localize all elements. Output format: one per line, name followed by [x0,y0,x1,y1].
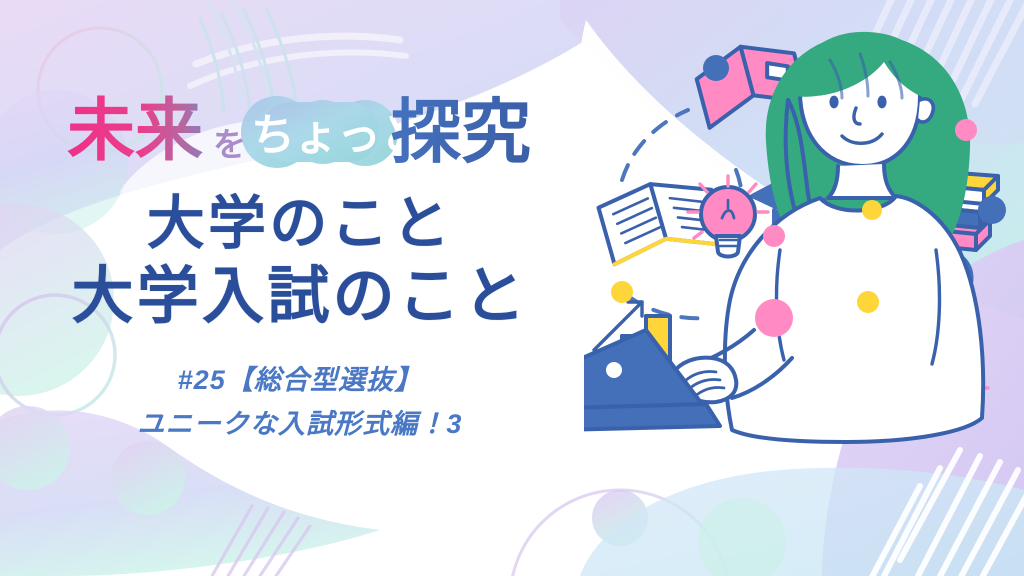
brand-logo: 未来 を ちょっと 探究 [65,92,535,174]
laptop-logo-dot [606,362,622,378]
blue-dot-2 [978,196,1006,224]
logo-text-wo: を [213,125,246,164]
logo-text-tankyu: 探究 [391,92,531,173]
headline-line-2: 大学入試のこと [71,260,528,333]
headline-line-1: 大学のこと [71,190,528,258]
blue-dot [703,55,729,81]
logo-text-mirai: 未来 [67,92,203,171]
brand-logo-graphic: 未来 を ちょっと 探究 [65,92,535,174]
yellow-dot-3 [857,291,879,313]
pink-dot-3 [955,119,977,141]
illustration-area [584,0,1024,576]
yellow-dot-2 [862,200,882,220]
episode-subtitle: #25【総合型選抜】 ユニークな入試形式編！3 [138,360,463,445]
laptop-base [584,404,720,430]
poster-canvas: 未来 を ちょっと 探究 大学のこと 大学入試のこと #25【総合型選抜】 ユニ… [0,0,1024,576]
yellow-dot [611,281,633,303]
subtitle-line-2: ユニークな入試形式編！3 [138,404,463,445]
page-title: 大学のこと 大学入試のこと [71,190,528,334]
illustration-graphic [584,0,1024,576]
subtitle-line-1: #25【総合型選抜】 [138,360,463,401]
pink-dot-small [763,225,785,247]
pink-dot [755,299,793,337]
text-column: 未来 を ちょっと 探究 大学のこと 大学入試のこと #25【総合型選抜】 ユニ… [0,0,600,576]
